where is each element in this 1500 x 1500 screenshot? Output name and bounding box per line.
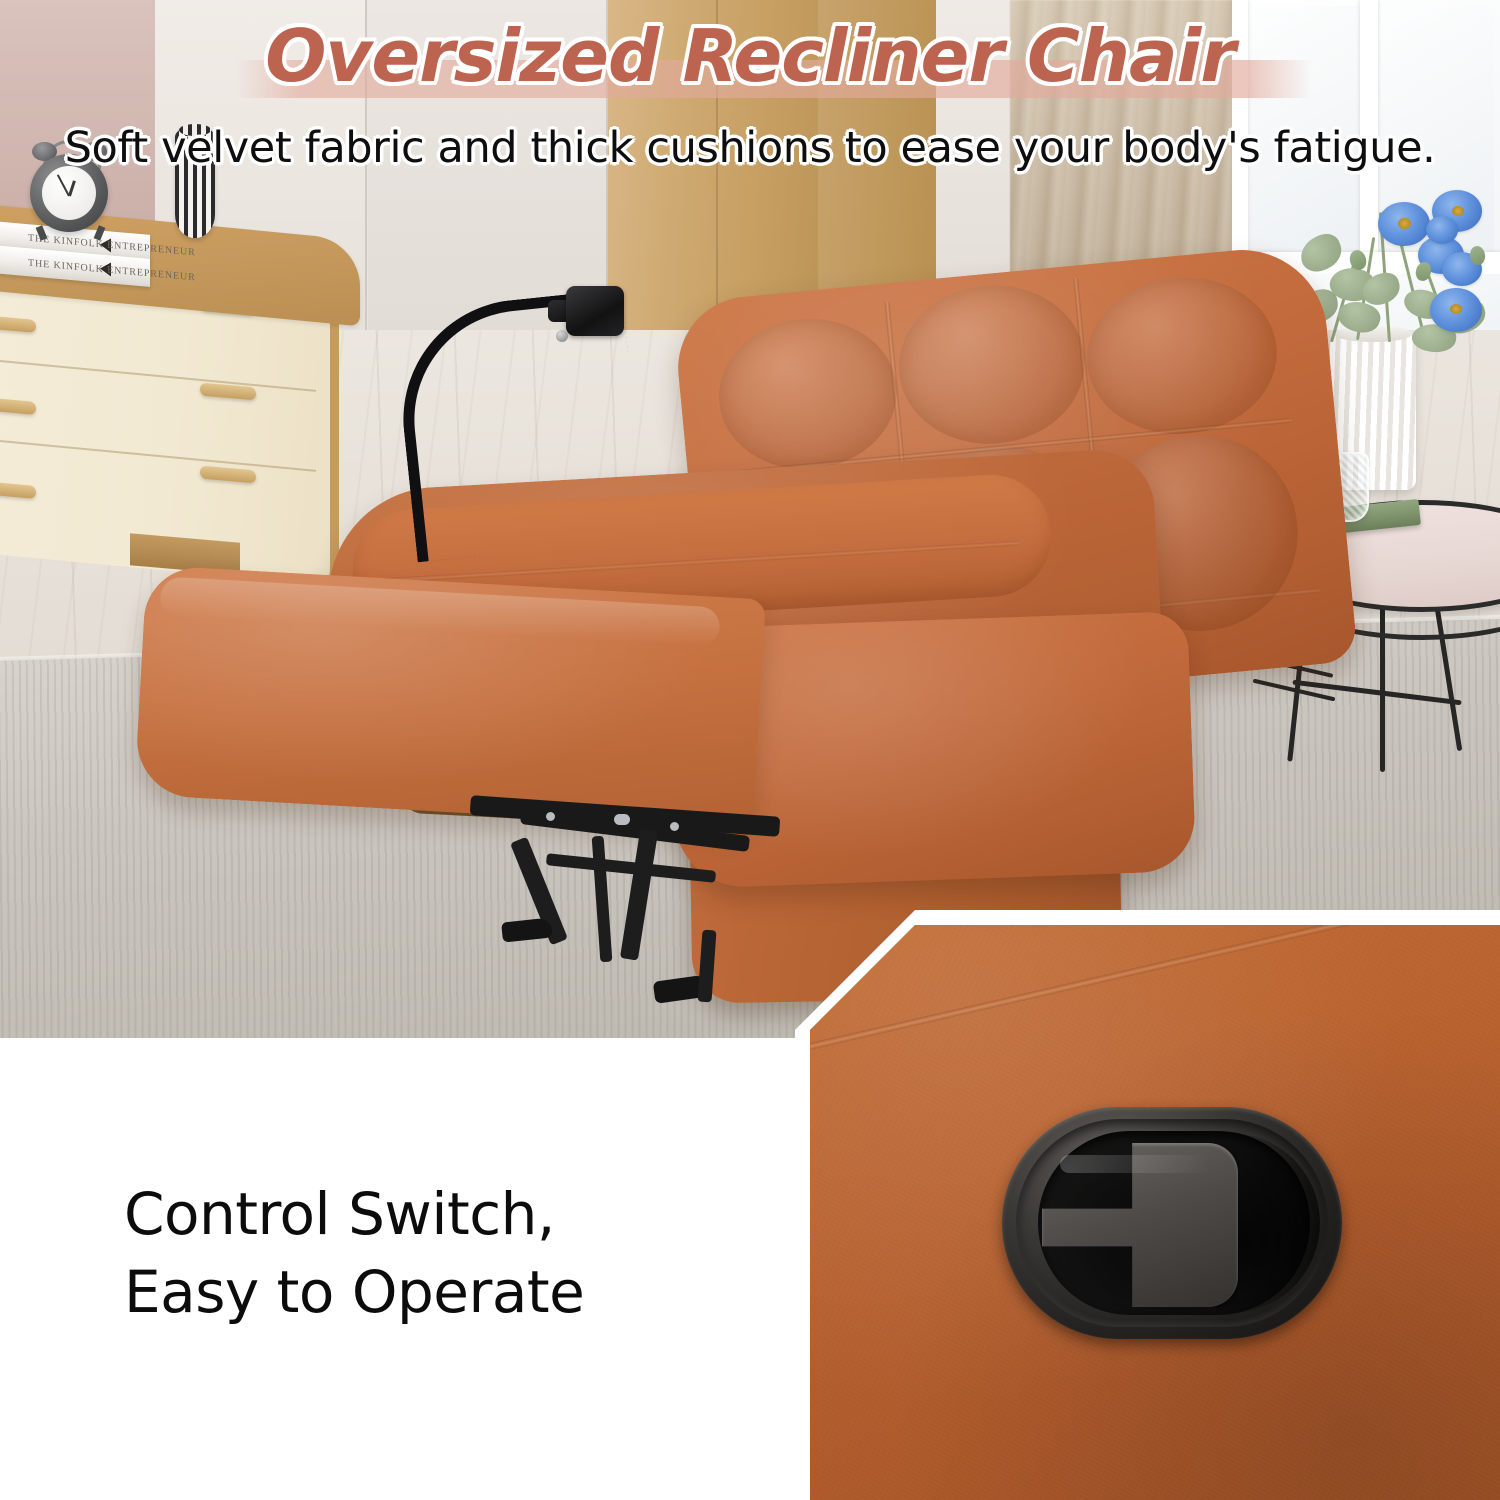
mechanism-bolt: [546, 812, 555, 821]
product-marketing-image: THE KINFOLK ENTREPRENEUR THE KINFOLK ENT…: [0, 0, 1500, 1500]
caption-block: Control Switch, Easy to Operate: [124, 1175, 764, 1331]
page-subtitle: Soft velvet fabric and thick cushions to…: [0, 123, 1500, 173]
cushion-tuft: [1080, 269, 1284, 442]
blue-poppy: [1426, 216, 1458, 244]
power-plug: [566, 286, 624, 336]
cushion-tuft: [712, 311, 903, 477]
caption-line-2: Easy to Operate: [124, 1253, 764, 1331]
poppy-center: [1398, 218, 1411, 229]
plug-screw-icon: [556, 330, 568, 342]
cushion-tuft: [892, 277, 1092, 452]
control-switch-rim: [1016, 1119, 1328, 1327]
mechanism-bolt: [614, 814, 630, 825]
poppy-center: [1450, 304, 1462, 314]
caption-line-1: Control Switch,: [124, 1175, 764, 1253]
poppy-center: [1452, 206, 1464, 216]
room-scene-photo: THE KINFOLK ENTREPRENEUR THE KINFOLK ENT…: [0, 0, 1500, 1038]
page-title: Oversized Recliner Chair: [0, 14, 1500, 98]
control-switch-closeup-panel: [810, 925, 1500, 1500]
mechanism-bolt: [670, 822, 679, 831]
